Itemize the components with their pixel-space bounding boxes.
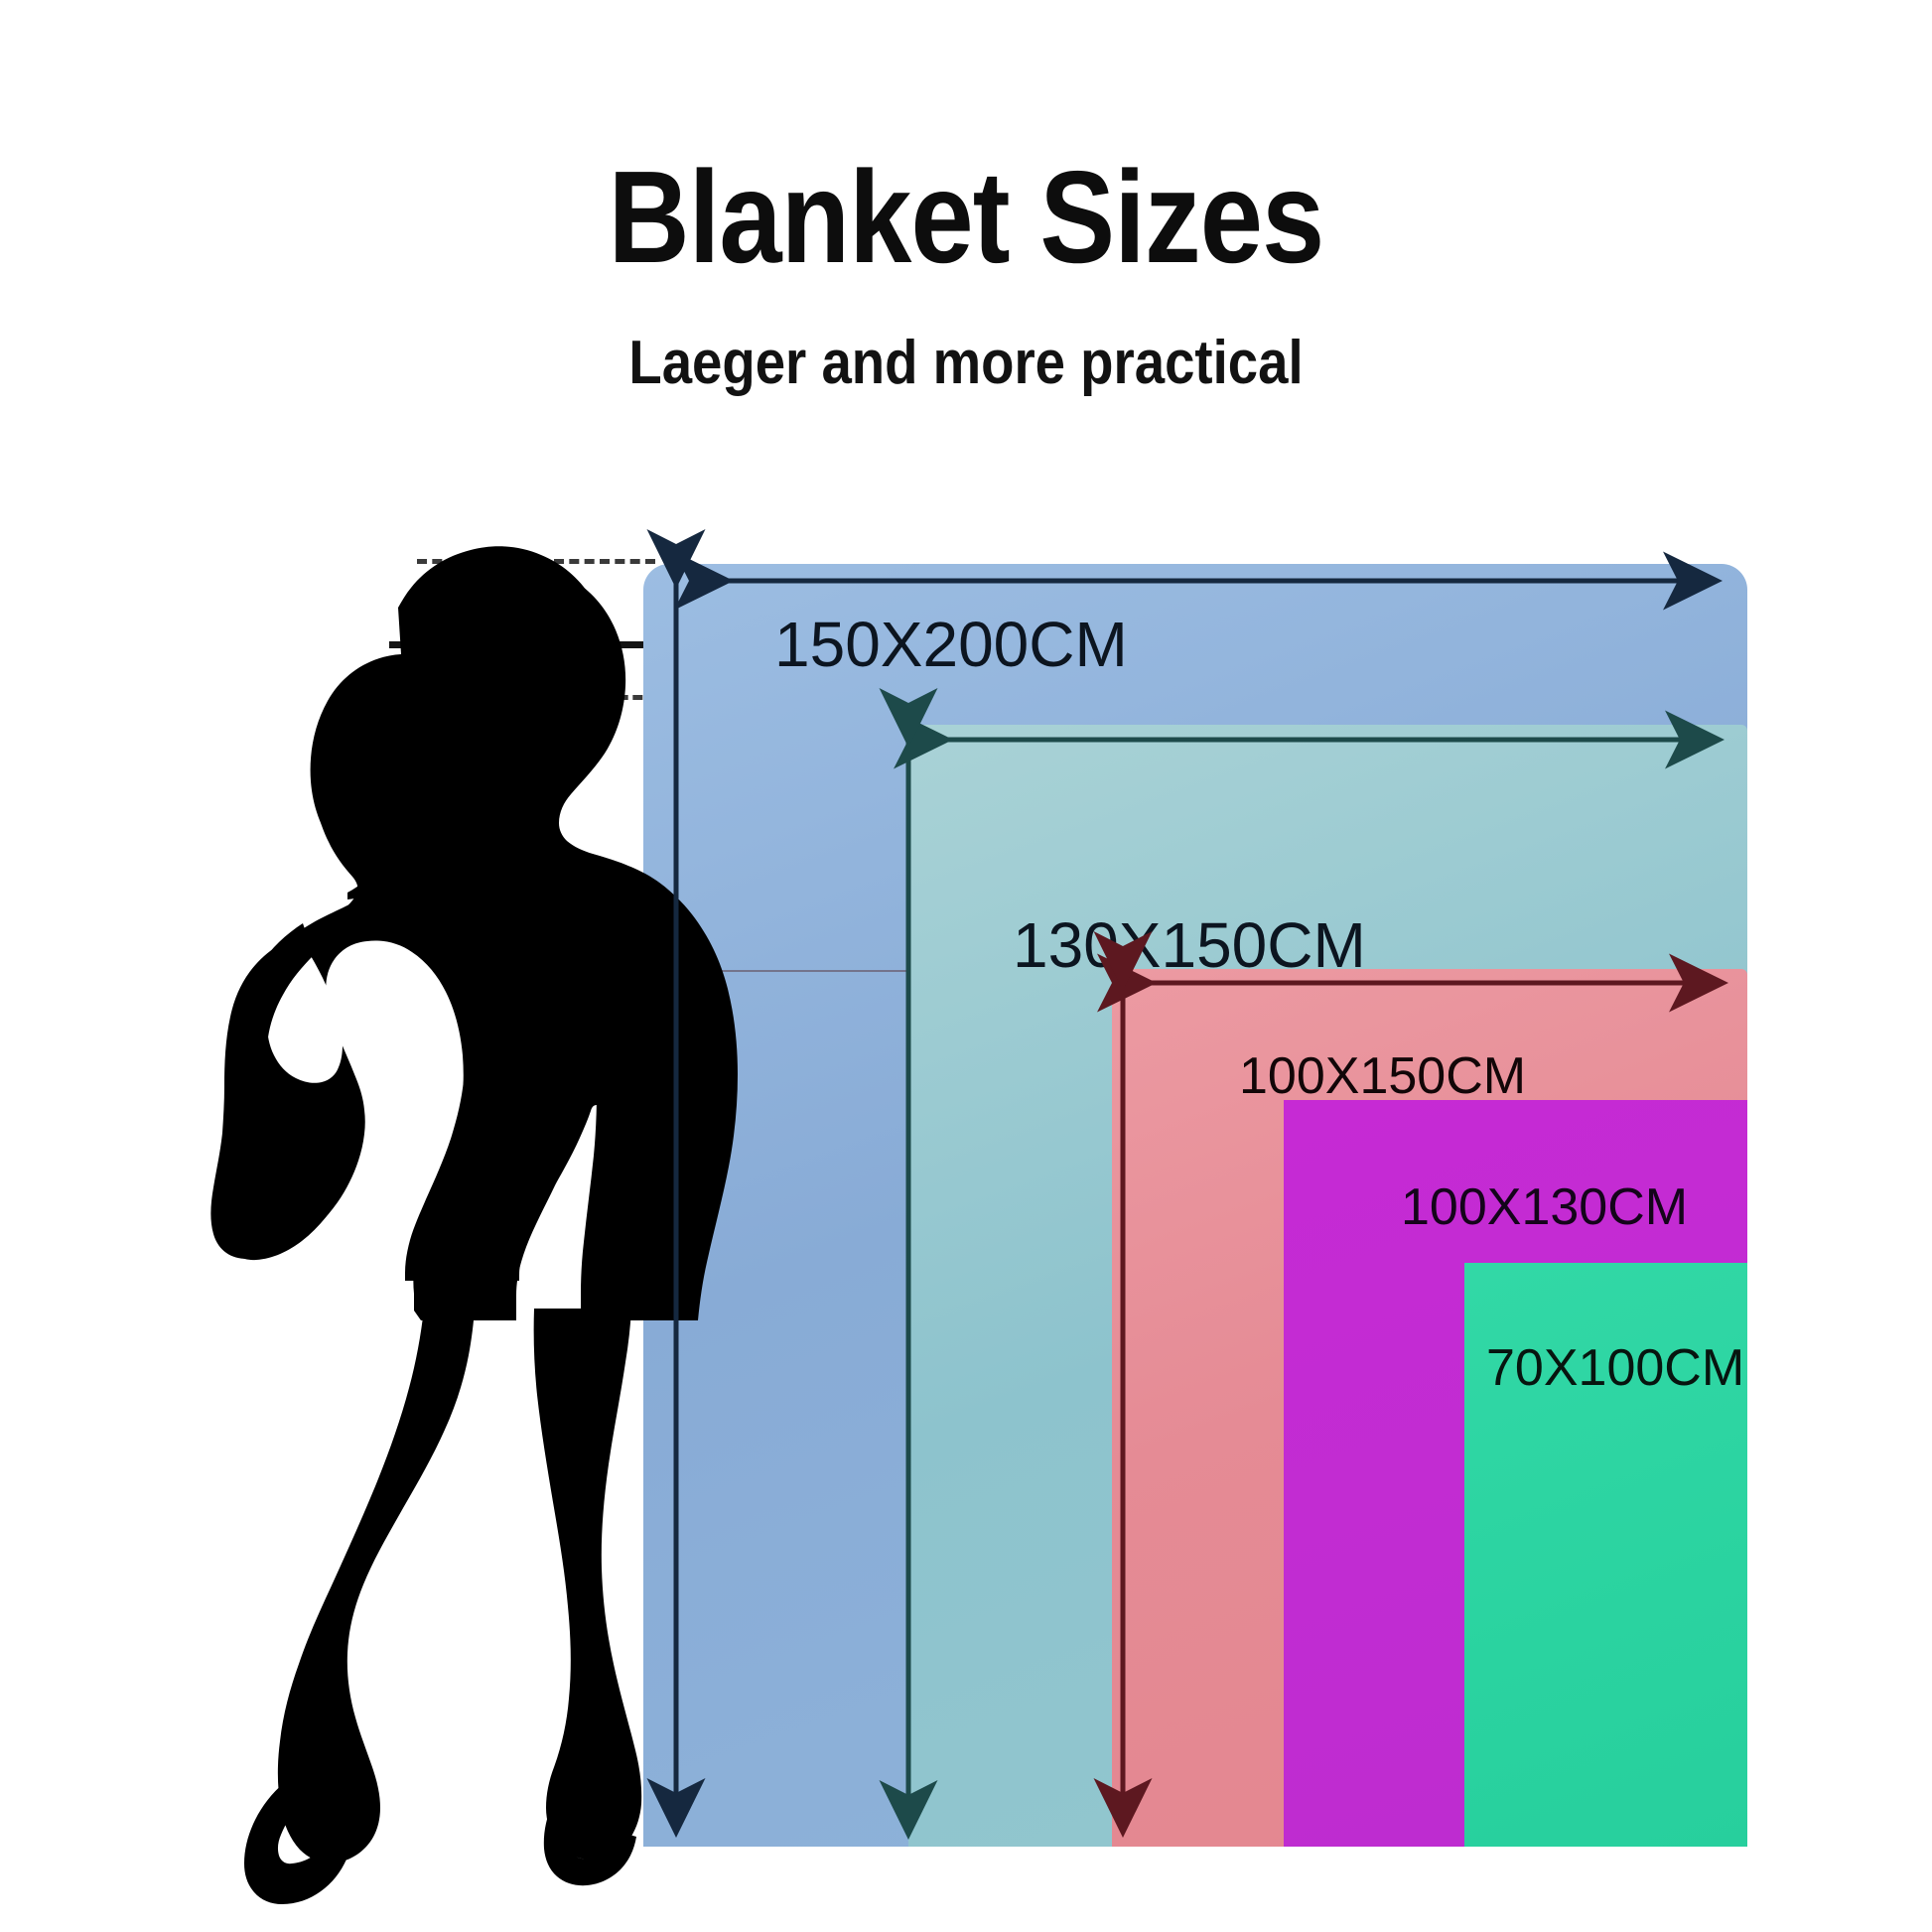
diagram-canvas: Blanket Sizes Laeger and more practical …	[0, 0, 1932, 1932]
dimension-arrows-130x150	[908, 740, 1720, 1835]
dimension-arrows-100x150	[1123, 983, 1724, 1833]
overlay-graphics	[0, 0, 1932, 1932]
dimension-arrows-150x200	[676, 581, 1718, 1833]
woman-silhouette	[210, 546, 738, 1904]
